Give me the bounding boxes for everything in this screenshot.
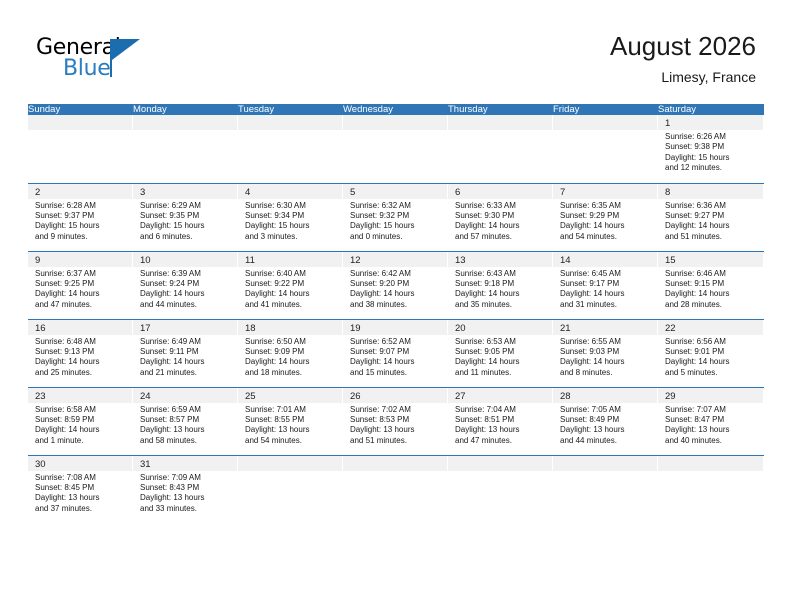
daylight-text-line2: and 8 minutes. [560, 368, 653, 378]
day-number: 19 [343, 320, 447, 335]
day-details: Sunrise: 7:01 AMSunset: 8:55 PMDaylight:… [238, 403, 342, 447]
day-number [238, 456, 342, 471]
daylight-text-line2: and 40 minutes. [665, 436, 759, 446]
day-number: 7 [553, 184, 657, 199]
sunrise-text: Sunrise: 6:36 AM [665, 201, 759, 211]
day-number [343, 456, 447, 471]
sunset-text: Sunset: 9:34 PM [245, 211, 338, 221]
page-title: August 2026 [610, 30, 756, 62]
sunset-text: Sunset: 9:11 PM [140, 347, 233, 357]
day-number [448, 115, 552, 130]
calendar-table: Sunday Monday Tuesday Wednesday Thursday… [28, 104, 764, 523]
calendar-cell-day[interactable]: 17Sunrise: 6:49 AMSunset: 9:11 PMDayligh… [133, 320, 238, 387]
daylight-text-line1: Daylight: 13 hours [560, 425, 653, 435]
day-number [448, 456, 552, 471]
day-details: Sunrise: 7:09 AMSunset: 8:43 PMDaylight:… [133, 471, 237, 515]
calendar-cell-day[interactable]: 15Sunrise: 6:46 AMSunset: 9:15 PMDayligh… [658, 252, 764, 319]
calendar-cell-day[interactable]: 4Sunrise: 6:30 AMSunset: 9:34 PMDaylight… [238, 184, 343, 251]
sunrise-text: Sunrise: 6:58 AM [35, 405, 128, 415]
daylight-text-line2: and 3 minutes. [245, 232, 338, 242]
day-number: 21 [553, 320, 657, 335]
day-details: Sunrise: 6:58 AMSunset: 8:59 PMDaylight:… [28, 403, 132, 447]
day-number [28, 115, 132, 130]
daylight-text-line1: Daylight: 13 hours [245, 425, 338, 435]
daylight-text-line2: and 6 minutes. [140, 232, 233, 242]
daylight-text-line1: Daylight: 14 hours [665, 221, 759, 231]
calendar-cell-day[interactable]: 20Sunrise: 6:53 AMSunset: 9:05 PMDayligh… [448, 320, 553, 387]
calendar-cell-day[interactable]: 30Sunrise: 7:08 AMSunset: 8:45 PMDayligh… [28, 456, 133, 524]
day-number: 29 [658, 388, 763, 403]
day-details: Sunrise: 6:28 AMSunset: 9:37 PMDaylight:… [28, 199, 132, 243]
calendar-header-row: Sunday Monday Tuesday Wednesday Thursday… [28, 104, 764, 115]
day-details: Sunrise: 6:48 AMSunset: 9:13 PMDaylight:… [28, 335, 132, 379]
day-number [238, 115, 342, 130]
day-details: Sunrise: 6:53 AMSunset: 9:05 PMDaylight:… [448, 335, 552, 379]
sunrise-text: Sunrise: 6:26 AM [665, 132, 759, 142]
daylight-text-line1: Daylight: 14 hours [560, 221, 653, 231]
sunset-text: Sunset: 9:01 PM [665, 347, 759, 357]
day-details: Sunrise: 6:59 AMSunset: 8:57 PMDaylight:… [133, 403, 237, 447]
daylight-text-line1: Daylight: 14 hours [665, 289, 759, 299]
day-number: 18 [238, 320, 342, 335]
daylight-text-line1: Daylight: 14 hours [245, 289, 338, 299]
calendar-cell-day[interactable]: 14Sunrise: 6:45 AMSunset: 9:17 PMDayligh… [553, 252, 658, 319]
day-details: Sunrise: 7:02 AMSunset: 8:53 PMDaylight:… [343, 403, 447, 447]
calendar-cell-empty [343, 456, 448, 524]
sunset-text: Sunset: 8:59 PM [35, 415, 128, 425]
calendar-cell-empty [658, 456, 764, 524]
day-number [553, 115, 657, 130]
sunset-text: Sunset: 8:47 PM [665, 415, 759, 425]
day-number: 17 [133, 320, 237, 335]
calendar-cell-empty [343, 115, 448, 183]
sunrise-text: Sunrise: 6:59 AM [140, 405, 233, 415]
calendar-cell-empty [448, 115, 553, 183]
daylight-text-line1: Daylight: 13 hours [140, 425, 233, 435]
sunrise-text: Sunrise: 7:02 AM [350, 405, 443, 415]
sunset-text: Sunset: 9:37 PM [35, 211, 128, 221]
day-number: 10 [133, 252, 237, 267]
calendar-cell-day[interactable]: 2Sunrise: 6:28 AMSunset: 9:37 PMDaylight… [28, 184, 133, 251]
page-subtitle: Limesy, France [610, 67, 756, 87]
daylight-text-line2: and 28 minutes. [665, 300, 759, 310]
daylight-text-line2: and 12 minutes. [665, 163, 759, 173]
daylight-text-line2: and 57 minutes. [455, 232, 548, 242]
sunset-text: Sunset: 9:13 PM [35, 347, 128, 357]
calendar-cell-day[interactable]: 18Sunrise: 6:50 AMSunset: 9:09 PMDayligh… [238, 320, 343, 387]
day-details: Sunrise: 6:37 AMSunset: 9:25 PMDaylight:… [28, 267, 132, 311]
daylight-text-line2: and 44 minutes. [140, 300, 233, 310]
sunset-text: Sunset: 9:30 PM [455, 211, 548, 221]
sunrise-text: Sunrise: 6:32 AM [350, 201, 443, 211]
sunrise-text: Sunrise: 7:05 AM [560, 405, 653, 415]
calendar-cell-day[interactable]: 10Sunrise: 6:39 AMSunset: 9:24 PMDayligh… [133, 252, 238, 319]
day-details: Sunrise: 7:08 AMSunset: 8:45 PMDaylight:… [28, 471, 132, 515]
weekday-header-tuesday: Tuesday [238, 104, 343, 115]
title-block: August 2026 Limesy, France [610, 30, 756, 87]
sunrise-text: Sunrise: 6:33 AM [455, 201, 548, 211]
day-number: 3 [133, 184, 237, 199]
day-number: 5 [343, 184, 447, 199]
sunset-text: Sunset: 8:57 PM [140, 415, 233, 425]
day-number: 24 [133, 388, 237, 403]
daylight-text-line2: and 38 minutes. [350, 300, 443, 310]
weekday-header-friday: Friday [553, 104, 658, 115]
daylight-text-line2: and 35 minutes. [455, 300, 548, 310]
calendar-cell-day[interactable]: 27Sunrise: 7:04 AMSunset: 8:51 PMDayligh… [448, 388, 553, 455]
weekday-header-saturday: Saturday [658, 104, 764, 115]
day-details: Sunrise: 7:07 AMSunset: 8:47 PMDaylight:… [658, 403, 763, 447]
page-header: General Blue August 2026 Limesy, France [0, 0, 792, 100]
daylight-text-line1: Daylight: 14 hours [665, 357, 759, 367]
calendar-cell-day[interactable]: 11Sunrise: 6:40 AMSunset: 9:22 PMDayligh… [238, 252, 343, 319]
daylight-text-line1: Daylight: 15 hours [35, 221, 128, 231]
daylight-text-line2: and 47 minutes. [455, 436, 548, 446]
general-blue-logo: General Blue [36, 36, 216, 84]
daylight-text-line2: and 51 minutes. [350, 436, 443, 446]
calendar-week-row: 1Sunrise: 6:26 AMSunset: 9:38 PMDaylight… [28, 115, 764, 183]
sunset-text: Sunset: 9:07 PM [350, 347, 443, 357]
daylight-text-line2: and 33 minutes. [140, 504, 233, 514]
daylight-text-line1: Daylight: 14 hours [140, 357, 233, 367]
daylight-text-line1: Daylight: 13 hours [350, 425, 443, 435]
sunset-text: Sunset: 8:53 PM [350, 415, 443, 425]
daylight-text-line1: Daylight: 13 hours [140, 493, 233, 503]
daylight-text-line1: Daylight: 14 hours [35, 357, 128, 367]
calendar-cell-day[interactable]: 22Sunrise: 6:56 AMSunset: 9:01 PMDayligh… [658, 320, 764, 387]
sunrise-text: Sunrise: 6:35 AM [560, 201, 653, 211]
daylight-text-line2: and 9 minutes. [35, 232, 128, 242]
calendar-cell-day[interactable]: 6Sunrise: 6:33 AMSunset: 9:30 PMDaylight… [448, 184, 553, 251]
day-details: Sunrise: 6:49 AMSunset: 9:11 PMDaylight:… [133, 335, 237, 379]
daylight-text-line1: Daylight: 14 hours [560, 289, 653, 299]
calendar-cell-day[interactable]: 1Sunrise: 6:26 AMSunset: 9:38 PMDaylight… [658, 115, 764, 183]
calendar-week-row: 30Sunrise: 7:08 AMSunset: 8:45 PMDayligh… [28, 455, 764, 523]
sunset-text: Sunset: 9:17 PM [560, 279, 653, 289]
calendar-cell-day[interactable]: 12Sunrise: 6:42 AMSunset: 9:20 PMDayligh… [343, 252, 448, 319]
day-number: 25 [238, 388, 342, 403]
daylight-text-line1: Daylight: 14 hours [35, 289, 128, 299]
daylight-text-line2: and 58 minutes. [140, 436, 233, 446]
calendar-cell-day[interactable]: 24Sunrise: 6:59 AMSunset: 8:57 PMDayligh… [133, 388, 238, 455]
sunrise-text: Sunrise: 7:09 AM [140, 473, 233, 483]
sunset-text: Sunset: 8:43 PM [140, 483, 233, 493]
day-details: Sunrise: 6:39 AMSunset: 9:24 PMDaylight:… [133, 267, 237, 311]
daylight-text-line1: Daylight: 13 hours [35, 493, 128, 503]
day-details: Sunrise: 6:52 AMSunset: 9:07 PMDaylight:… [343, 335, 447, 379]
daylight-text-line2: and 41 minutes. [245, 300, 338, 310]
daylight-text-line2: and 31 minutes. [560, 300, 653, 310]
calendar-cell-day[interactable]: 3Sunrise: 6:29 AMSunset: 9:35 PMDaylight… [133, 184, 238, 251]
daylight-text-line1: Daylight: 14 hours [350, 289, 443, 299]
daylight-text-line1: Daylight: 14 hours [140, 289, 233, 299]
calendar-cell-day[interactable]: 29Sunrise: 7:07 AMSunset: 8:47 PMDayligh… [658, 388, 764, 455]
sunset-text: Sunset: 9:35 PM [140, 211, 233, 221]
day-number [658, 456, 763, 471]
sunrise-text: Sunrise: 7:08 AM [35, 473, 128, 483]
day-details: Sunrise: 6:43 AMSunset: 9:18 PMDaylight:… [448, 267, 552, 311]
calendar-week-row: 23Sunrise: 6:58 AMSunset: 8:59 PMDayligh… [28, 387, 764, 455]
sunset-text: Sunset: 8:45 PM [35, 483, 128, 493]
sunrise-text: Sunrise: 6:45 AM [560, 269, 653, 279]
daylight-text-line2: and 54 minutes. [245, 436, 338, 446]
daylight-text-line2: and 37 minutes. [35, 504, 128, 514]
daylight-text-line2: and 21 minutes. [140, 368, 233, 378]
sunrise-text: Sunrise: 6:46 AM [665, 269, 759, 279]
daylight-text-line2: and 15 minutes. [350, 368, 443, 378]
day-number: 1 [658, 115, 763, 130]
calendar-cell-empty [553, 456, 658, 524]
sunrise-text: Sunrise: 7:04 AM [455, 405, 548, 415]
sunrise-text: Sunrise: 6:39 AM [140, 269, 233, 279]
day-number: 4 [238, 184, 342, 199]
calendar-cell-day[interactable]: 7Sunrise: 6:35 AMSunset: 9:29 PMDaylight… [553, 184, 658, 251]
day-number: 30 [28, 456, 132, 471]
day-number: 11 [238, 252, 342, 267]
day-number: 12 [343, 252, 447, 267]
day-number: 8 [658, 184, 763, 199]
day-number: 22 [658, 320, 763, 335]
daylight-text-line1: Daylight: 13 hours [455, 425, 548, 435]
calendar-cell-day[interactable]: 21Sunrise: 6:55 AMSunset: 9:03 PMDayligh… [553, 320, 658, 387]
sunset-text: Sunset: 9:15 PM [665, 279, 759, 289]
day-details: Sunrise: 6:45 AMSunset: 9:17 PMDaylight:… [553, 267, 657, 311]
daylight-text-line1: Daylight: 15 hours [140, 221, 233, 231]
logo-flag-icon [112, 39, 140, 60]
day-number: 27 [448, 388, 552, 403]
sunrise-text: Sunrise: 6:55 AM [560, 337, 653, 347]
daylight-text-line2: and 18 minutes. [245, 368, 338, 378]
day-details: Sunrise: 6:36 AMSunset: 9:27 PMDaylight:… [658, 199, 763, 243]
daylight-text-line2: and 11 minutes. [455, 368, 548, 378]
day-number: 2 [28, 184, 132, 199]
sunset-text: Sunset: 8:49 PM [560, 415, 653, 425]
sunrise-text: Sunrise: 6:30 AM [245, 201, 338, 211]
daylight-text-line1: Daylight: 14 hours [455, 357, 548, 367]
day-details: Sunrise: 6:50 AMSunset: 9:09 PMDaylight:… [238, 335, 342, 379]
calendar-page: General Blue August 2026 Limesy, France … [0, 0, 792, 612]
sunrise-text: Sunrise: 6:40 AM [245, 269, 338, 279]
sunset-text: Sunset: 9:05 PM [455, 347, 548, 357]
day-number [553, 456, 657, 471]
daylight-text-line1: Daylight: 15 hours [350, 221, 443, 231]
day-number: 20 [448, 320, 552, 335]
sunset-text: Sunset: 9:38 PM [665, 142, 759, 152]
logo-text-blue: Blue [63, 57, 110, 81]
day-number: 14 [553, 252, 657, 267]
day-details: Sunrise: 6:33 AMSunset: 9:30 PMDaylight:… [448, 199, 552, 243]
calendar-cell-day[interactable]: 31Sunrise: 7:09 AMSunset: 8:43 PMDayligh… [133, 456, 238, 524]
sunset-text: Sunset: 9:25 PM [35, 279, 128, 289]
day-number: 23 [28, 388, 132, 403]
calendar-week-row: 16Sunrise: 6:48 AMSunset: 9:13 PMDayligh… [28, 319, 764, 387]
daylight-text-line1: Daylight: 14 hours [245, 357, 338, 367]
day-number: 28 [553, 388, 657, 403]
day-details: Sunrise: 6:26 AMSunset: 9:38 PMDaylight:… [658, 130, 763, 174]
sunrise-text: Sunrise: 6:48 AM [35, 337, 128, 347]
calendar-cell-empty [238, 115, 343, 183]
calendar-cell-day[interactable]: 16Sunrise: 6:48 AMSunset: 9:13 PMDayligh… [28, 320, 133, 387]
sunrise-text: Sunrise: 6:52 AM [350, 337, 443, 347]
calendar-cell-day[interactable]: 5Sunrise: 6:32 AMSunset: 9:32 PMDaylight… [343, 184, 448, 251]
sunrise-text: Sunrise: 6:43 AM [455, 269, 548, 279]
sunset-text: Sunset: 9:24 PM [140, 279, 233, 289]
weekday-header-sunday: Sunday [28, 104, 133, 115]
calendar-cell-day[interactable]: 8Sunrise: 6:36 AMSunset: 9:27 PMDaylight… [658, 184, 764, 251]
calendar-cell-day[interactable]: 25Sunrise: 7:01 AMSunset: 8:55 PMDayligh… [238, 388, 343, 455]
day-number: 13 [448, 252, 552, 267]
sunrise-text: Sunrise: 6:42 AM [350, 269, 443, 279]
calendar-cell-day[interactable]: 19Sunrise: 6:52 AMSunset: 9:07 PMDayligh… [343, 320, 448, 387]
calendar-cell-empty [238, 456, 343, 524]
calendar-cell-day[interactable]: 23Sunrise: 6:58 AMSunset: 8:59 PMDayligh… [28, 388, 133, 455]
day-number: 15 [658, 252, 763, 267]
day-details: Sunrise: 6:30 AMSunset: 9:34 PMDaylight:… [238, 199, 342, 243]
day-details: Sunrise: 6:40 AMSunset: 9:22 PMDaylight:… [238, 267, 342, 311]
day-details: Sunrise: 7:05 AMSunset: 8:49 PMDaylight:… [553, 403, 657, 447]
daylight-text-line2: and 51 minutes. [665, 232, 759, 242]
daylight-text-line1: Daylight: 14 hours [350, 357, 443, 367]
day-details: Sunrise: 6:55 AMSunset: 9:03 PMDaylight:… [553, 335, 657, 379]
weekday-header-monday: Monday [133, 104, 238, 115]
daylight-text-line1: Daylight: 15 hours [245, 221, 338, 231]
daylight-text-line1: Daylight: 14 hours [455, 289, 548, 299]
daylight-text-line1: Daylight: 13 hours [665, 425, 759, 435]
sunset-text: Sunset: 9:03 PM [560, 347, 653, 357]
sunrise-text: Sunrise: 6:53 AM [455, 337, 548, 347]
daylight-text-line1: Daylight: 14 hours [560, 357, 653, 367]
day-number: 26 [343, 388, 447, 403]
calendar-week-row: 2Sunrise: 6:28 AMSunset: 9:37 PMDaylight… [28, 183, 764, 251]
daylight-text-line2: and 44 minutes. [560, 436, 653, 446]
calendar-cell-day[interactable]: 26Sunrise: 7:02 AMSunset: 8:53 PMDayligh… [343, 388, 448, 455]
day-details: Sunrise: 6:56 AMSunset: 9:01 PMDaylight:… [658, 335, 763, 379]
weekday-header-wednesday: Wednesday [343, 104, 448, 115]
sunset-text: Sunset: 9:22 PM [245, 279, 338, 289]
day-details: Sunrise: 6:35 AMSunset: 9:29 PMDaylight:… [553, 199, 657, 243]
calendar-cell-empty [553, 115, 658, 183]
calendar-cell-day[interactable]: 9Sunrise: 6:37 AMSunset: 9:25 PMDaylight… [28, 252, 133, 319]
sunset-text: Sunset: 9:20 PM [350, 279, 443, 289]
calendar-cell-empty [133, 115, 238, 183]
calendar-cell-day[interactable]: 28Sunrise: 7:05 AMSunset: 8:49 PMDayligh… [553, 388, 658, 455]
calendar-cell-empty [28, 115, 133, 183]
sunset-text: Sunset: 9:27 PM [665, 211, 759, 221]
sunrise-text: Sunrise: 6:49 AM [140, 337, 233, 347]
day-number: 6 [448, 184, 552, 199]
sunrise-text: Sunrise: 6:37 AM [35, 269, 128, 279]
sunrise-text: Sunrise: 6:28 AM [35, 201, 128, 211]
calendar-cell-day[interactable]: 13Sunrise: 6:43 AMSunset: 9:18 PMDayligh… [448, 252, 553, 319]
sunrise-text: Sunrise: 7:01 AM [245, 405, 338, 415]
daylight-text-line2: and 47 minutes. [35, 300, 128, 310]
daylight-text-line2: and 5 minutes. [665, 368, 759, 378]
day-details: Sunrise: 6:32 AMSunset: 9:32 PMDaylight:… [343, 199, 447, 243]
day-details: Sunrise: 6:46 AMSunset: 9:15 PMDaylight:… [658, 267, 763, 311]
sunrise-text: Sunrise: 7:07 AM [665, 405, 759, 415]
sunrise-text: Sunrise: 6:56 AM [665, 337, 759, 347]
daylight-text-line1: Daylight: 14 hours [35, 425, 128, 435]
day-number [343, 115, 447, 130]
sunrise-text: Sunrise: 6:50 AM [245, 337, 338, 347]
daylight-text-line2: and 1 minute. [35, 436, 128, 446]
calendar-cell-empty [448, 456, 553, 524]
calendar-week-row: 9Sunrise: 6:37 AMSunset: 9:25 PMDaylight… [28, 251, 764, 319]
sunset-text: Sunset: 9:32 PM [350, 211, 443, 221]
sunset-text: Sunset: 9:29 PM [560, 211, 653, 221]
calendar-body: 1Sunrise: 6:26 AMSunset: 9:38 PMDaylight… [28, 115, 764, 523]
weekday-header-thursday: Thursday [448, 104, 553, 115]
day-number: 16 [28, 320, 132, 335]
day-details: Sunrise: 6:29 AMSunset: 9:35 PMDaylight:… [133, 199, 237, 243]
daylight-text-line1: Daylight: 15 hours [665, 153, 759, 163]
sunset-text: Sunset: 9:09 PM [245, 347, 338, 357]
day-details: Sunrise: 6:42 AMSunset: 9:20 PMDaylight:… [343, 267, 447, 311]
daylight-text-line2: and 54 minutes. [560, 232, 653, 242]
sunset-text: Sunset: 9:18 PM [455, 279, 548, 289]
sunset-text: Sunset: 8:55 PM [245, 415, 338, 425]
day-number [133, 115, 237, 130]
day-details: Sunrise: 7:04 AMSunset: 8:51 PMDaylight:… [448, 403, 552, 447]
day-number: 31 [133, 456, 237, 471]
daylight-text-line2: and 0 minutes. [350, 232, 443, 242]
sunrise-text: Sunrise: 6:29 AM [140, 201, 233, 211]
sunset-text: Sunset: 8:51 PM [455, 415, 548, 425]
daylight-text-line1: Daylight: 14 hours [455, 221, 548, 231]
daylight-text-line2: and 25 minutes. [35, 368, 128, 378]
day-number: 9 [28, 252, 132, 267]
